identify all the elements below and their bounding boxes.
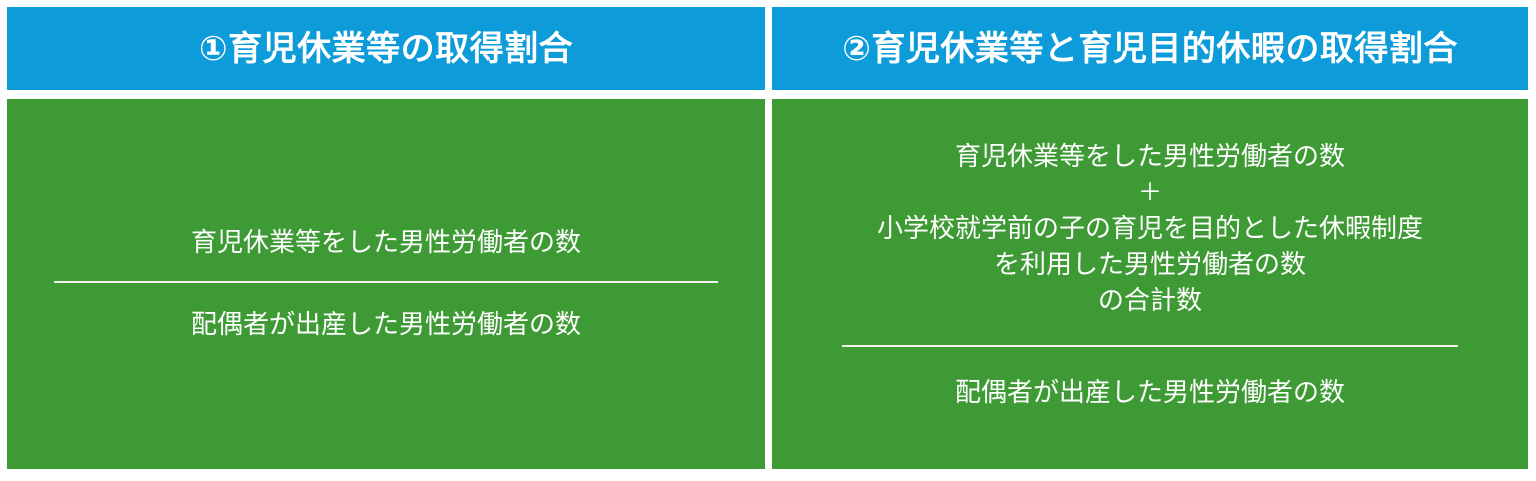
denominator-line: 配偶者が出産した男性労働者の数 <box>7 307 765 343</box>
numerator-line: 小学校就学前の子の育児を目的とした休暇制度 <box>772 211 1528 247</box>
panel-body-left: 育児休業等をした男性労働者の数 配偶者が出産した男性労働者の数 <box>7 99 765 469</box>
fraction-right: 育児休業等をした男性労働者の数 ＋ 小学校就学前の子の育児を目的とした休暇制度 … <box>772 139 1528 410</box>
fraction-denominator-right: 配偶者が出産した男性労働者の数 <box>772 347 1528 411</box>
panel-header-right: ②育児休業等と育児目的休暇の取得割合 <box>772 7 1528 90</box>
fraction-numerator-right: 育児休業等をした男性労働者の数 ＋ 小学校就学前の子の育児を目的とした休暇制度 … <box>772 139 1528 345</box>
panel-header-left: ①育児休業等の取得割合 <box>7 7 765 90</box>
panel-body-right: 育児休業等をした男性労働者の数 ＋ 小学校就学前の子の育児を目的とした休暇制度 … <box>772 99 1528 469</box>
fraction-numerator-left: 育児休業等をした男性労働者の数 <box>7 225 765 281</box>
numerator-line: 育児休業等をした男性労働者の数 <box>7 225 765 261</box>
formula-comparison-figure: ①育児休業等の取得割合 育児休業等をした男性労働者の数 配偶者が出産した男性労働… <box>0 0 1536 481</box>
numerator-line: 育児休業等をした男性労働者の数 <box>772 139 1528 175</box>
fraction-denominator-left: 配偶者が出産した男性労働者の数 <box>7 283 765 343</box>
plus-operator: ＋ <box>772 175 1528 211</box>
numerator-line: を利用した男性労働者の数 <box>772 247 1528 283</box>
panel-ratio-childcare-leave: ①育児休業等の取得割合 育児休業等をした男性労働者の数 配偶者が出産した男性労働… <box>7 7 765 469</box>
panel-ratio-childcare-leave-and-purpose-leave: ②育児休業等と育児目的休暇の取得割合 育児休業等をした男性労働者の数 ＋ 小学校… <box>772 7 1528 469</box>
denominator-line: 配偶者が出産した男性労働者の数 <box>772 375 1528 411</box>
fraction-left: 育児休業等をした男性労働者の数 配偶者が出産した男性労働者の数 <box>7 225 765 343</box>
numerator-line: の合計数 <box>772 283 1528 319</box>
